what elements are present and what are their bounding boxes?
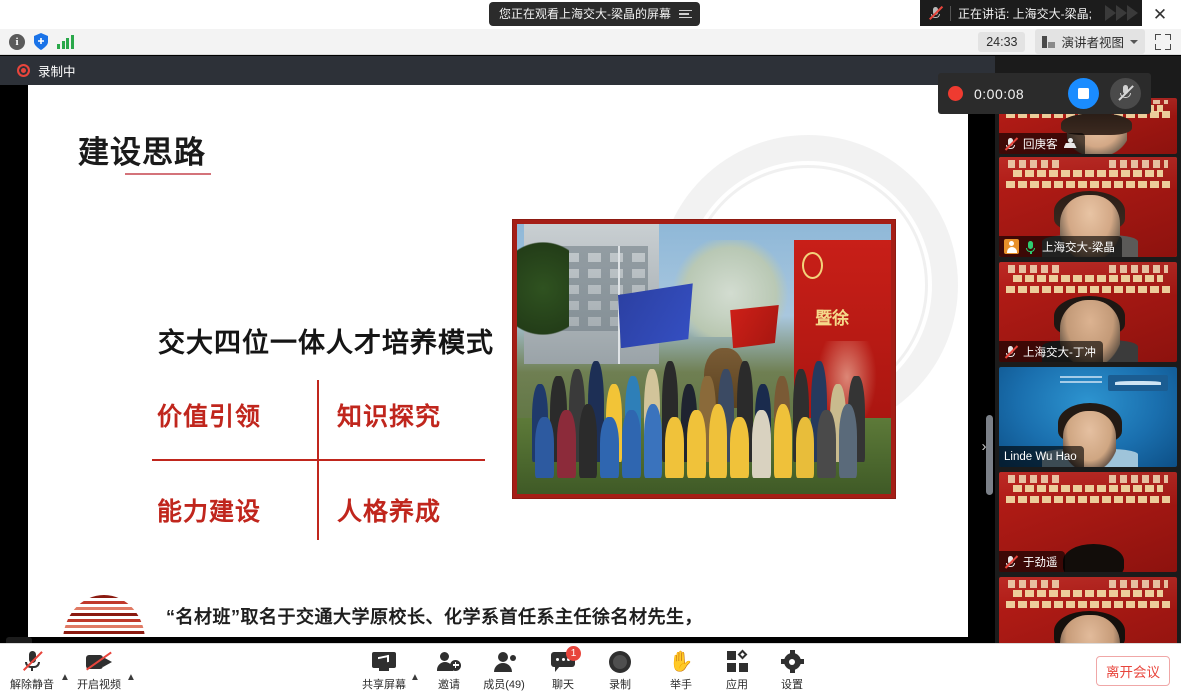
toolbar-item-video[interactable]: 开启视频 [70, 650, 128, 692]
slide-title: 建设思路 [78, 127, 206, 172]
recording-control-widget[interactable]: 0:00:08 [938, 73, 1151, 114]
recording-status-label: 录制中 [38, 61, 76, 80]
participants-icon [492, 650, 516, 673]
meta-bar-left: i [0, 33, 74, 50]
watching-screen-text: 您正在观看上海交大-梁晶的屏幕 [499, 2, 671, 26]
toolbar-label: 共享屏幕 [362, 676, 406, 692]
toolbar-label: 解除静音 [10, 676, 54, 692]
footnote-line-1: “名材班”取名于交通大学原校长、化学系首任系主任徐名材先生， [166, 603, 886, 629]
toolbar-label: 录制 [609, 676, 631, 692]
mic-muted-icon [1004, 555, 1018, 569]
recording-elapsed-time: 0:00:08 [974, 86, 1024, 102]
mic-muted-icon [1004, 137, 1018, 151]
tile-name-plate: 回庚客 [999, 133, 1085, 154]
camera-off-icon [86, 650, 112, 673]
active-speaker-notice: 正在讲话: 上海交大-梁晶; [920, 0, 1142, 26]
meeting-timer: 24:33 [978, 32, 1025, 52]
quadrant-label: 价值引领 [157, 385, 307, 445]
shared-screen-stage: 交 建设思路 交大四位一体人才培养模式 价值引领 知识探究 能力建设 人格养成 [0, 85, 995, 643]
video-tile[interactable] [999, 577, 1177, 643]
quadrant-label: 知识探究 [337, 385, 487, 445]
active-speaker-text: 正在讲话: 上海交大-梁晶; [958, 5, 1092, 22]
quadrant-label: 能力建设 [157, 480, 307, 540]
apps-icon [727, 650, 748, 673]
toolbar-label: 举手 [670, 676, 692, 692]
video-tile[interactable]: 上海交大-丁冲 [999, 262, 1177, 362]
quadrant-label: 人格养成 [337, 480, 487, 540]
watching-screen-notice: 您正在观看上海交大-梁晶的屏幕 [489, 2, 700, 26]
meta-bar-right: 24:33 演讲者视图 [978, 29, 1181, 54]
toolbar-item-mute[interactable]: 解除静音 [3, 650, 61, 692]
signal-strength-icon[interactable] [57, 35, 74, 49]
participant-name: Linde Wu Hao [1004, 451, 1077, 463]
top-strip: 您正在观看上海交大-梁晶的屏幕 正在讲话: 上海交大-梁晶; ✕ [0, 0, 1181, 29]
slide-footnote: “名材班”取名于交通大学原校长、化学系首任系主任徐名材先生， 寓意为培养未来的社… [166, 603, 886, 637]
mic-on-icon [1024, 240, 1037, 254]
chat-unread-badge: 1 [566, 646, 581, 661]
slide-heading: 交大四位一体人才培养模式 [158, 321, 494, 360]
share-screen-icon [372, 650, 396, 673]
meeting-toolbar: 解除静音 ▲ 开启视频 ▲ 共享屏幕 ▲ 邀请 成员(4 [0, 643, 1181, 695]
gear-icon [782, 650, 803, 673]
four-in-one-model-diagram: 价值引领 知识探究 能力建设 人格养成 [152, 380, 485, 540]
view-mode-selector[interactable]: 演讲者视图 [1035, 29, 1145, 54]
tile-name-plate: 上海交大-梁晶 [999, 236, 1122, 257]
toolbar-item-apps[interactable]: 应用 [708, 650, 766, 692]
diagram-horizontal-divider [152, 459, 485, 461]
participant-name: 回庚客 [1023, 136, 1058, 152]
stop-square-icon [1078, 88, 1089, 99]
tile-name-plate: 于劲遥 [999, 551, 1065, 572]
tile-name-plate: Linde Wu Hao [999, 446, 1084, 467]
presentation-slide: 交 建设思路 交大四位一体人才培养模式 价值引领 知识探究 能力建设 人格养成 [28, 85, 968, 637]
toolbar-label: 应用 [726, 676, 748, 692]
toolbar-item-share-screen[interactable]: 共享屏幕 [355, 650, 413, 692]
record-dot-icon [17, 64, 30, 77]
toolbar-item-raise-hand[interactable]: ✋ 举手 [652, 650, 710, 692]
toolbar-item-settings[interactable]: 设置 [763, 650, 821, 692]
video-tile[interactable]: 上海交大-梁晶 [999, 157, 1177, 257]
video-tile[interactable]: Linde Wu Hao [999, 367, 1177, 467]
participant-name: 于劲遥 [1023, 554, 1058, 570]
hamburger-icon[interactable] [679, 10, 692, 19]
zoom-meeting-window: 您正在观看上海交大-梁晶的屏幕 正在讲话: 上海交大-梁晶; ✕ i 24:33 [0, 0, 1181, 695]
info-icon[interactable]: i [9, 34, 25, 50]
video-options-chevron-icon[interactable]: ▲ [125, 671, 137, 683]
close-icon[interactable]: ✕ [1147, 2, 1173, 26]
toolbar-item-chat[interactable]: 1 聊天 [534, 650, 592, 692]
toolbar-item-invite[interactable]: 邀请 [420, 650, 478, 692]
participant-filmstrip[interactable]: 回庚客 上海交大-梁晶 上海交大-丁冲 [995, 56, 1181, 643]
raise-hand-icon: ✋ [669, 650, 694, 673]
seat-icon [1063, 137, 1078, 150]
leave-meeting-button[interactable]: 离开会议 [1096, 656, 1170, 686]
mic-muted-icon [22, 650, 43, 673]
toolbar-item-participants[interactable]: 成员(49) [475, 650, 533, 692]
decorative-circle-graphic [63, 595, 145, 637]
toolbar-label: 邀请 [438, 676, 460, 692]
mic-muted-icon [1004, 345, 1018, 359]
slide-group-photo: 暨徐 [513, 220, 895, 498]
fullscreen-icon[interactable] [1155, 34, 1171, 50]
toolbar-label: 设置 [781, 676, 803, 692]
toolbar-item-record[interactable]: 录制 [591, 650, 649, 692]
toolbar-label: 聊天 [552, 676, 574, 692]
view-mode-label: 演讲者视图 [1061, 32, 1124, 51]
shield-icon[interactable] [33, 33, 49, 50]
slide-title-underline [125, 173, 211, 175]
divider [950, 6, 951, 21]
mute-toggle-button[interactable] [1110, 78, 1141, 109]
tile-name-plate: 上海交大-丁冲 [999, 341, 1103, 362]
mic-muted-icon [928, 6, 943, 21]
participant-name: 上海交大-梁晶 [1042, 239, 1115, 255]
record-dot-icon [948, 86, 963, 101]
chevron-down-icon [1130, 40, 1138, 44]
record-icon [609, 650, 631, 673]
video-tile[interactable]: 于劲遥 [999, 472, 1177, 572]
toolbar-label: 开启视频 [77, 676, 121, 692]
stop-recording-button[interactable] [1068, 78, 1099, 109]
layout-icon [1042, 36, 1055, 48]
photo-banner-text: 暨徐 [815, 304, 849, 329]
stage-scrollbar[interactable] [986, 415, 993, 495]
avatar-icon [1004, 239, 1019, 254]
toolbar-label: 成员(49) [483, 676, 525, 692]
participant-name: 上海交大-丁冲 [1023, 344, 1096, 360]
invite-user-icon [437, 650, 461, 673]
meeting-meta-bar: i 24:33 演讲者视图 [0, 29, 1181, 55]
chevrons-decoration [1105, 5, 1138, 21]
